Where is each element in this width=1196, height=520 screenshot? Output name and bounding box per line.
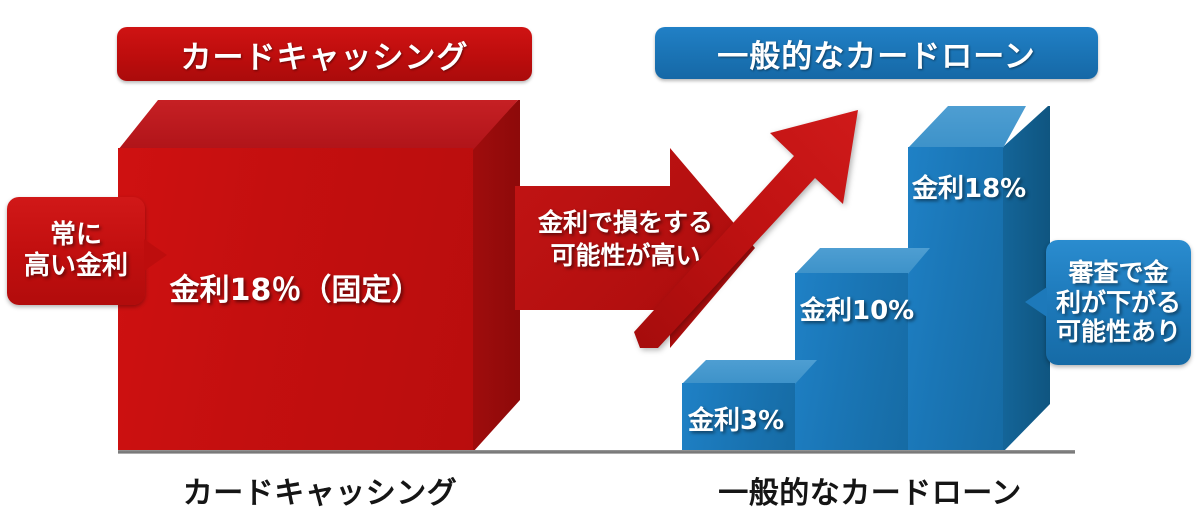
left-header-banner-label: カードキャッシング (181, 32, 469, 77)
rising-trend-arrow (630, 100, 890, 350)
right-callout-tail (1025, 287, 1047, 317)
step-1-top-face (682, 360, 817, 384)
rising-trend-arrow-body (634, 110, 858, 348)
left-callout-line-1: 常に (24, 220, 128, 251)
left-caption: カードキャッシング (110, 468, 530, 512)
fixed-rate-block: 金利18％（固定） (118, 100, 518, 455)
right-callout-line-3: 可能性あり (1056, 317, 1181, 347)
baseline-rule (118, 450, 1075, 454)
right-header-banner-label: 一般的なカードローン (717, 31, 1035, 76)
right-callout-bubble: 審査で金 利が下がる 可能性あり (1046, 240, 1191, 365)
right-header-banner: 一般的なカードローン (655, 27, 1098, 79)
right-caption: 一般的なカードローン (650, 468, 1090, 512)
red-block-top-face (118, 100, 518, 150)
infographic-canvas: カードキャッシング 一般的なカードローン 金利18％（固定） 金利3% 金利10… (0, 0, 1196, 520)
right-callout-line-1: 審査で金 (1056, 258, 1181, 288)
left-callout-tail (144, 239, 167, 271)
fixed-rate-label: 金利18％（固定） (118, 265, 473, 309)
left-header-banner: カードキャッシング (117, 27, 532, 81)
left-callout-line-2: 高い金利 (24, 251, 128, 282)
step-3-label: 金利18% (912, 168, 1026, 205)
step-1-label: 金利3% (688, 400, 784, 437)
right-callout-line-2: 利が下がる (1056, 288, 1181, 318)
left-callout-bubble: 常に 高い金利 (7, 197, 145, 305)
step-3-top-face (908, 106, 1026, 148)
